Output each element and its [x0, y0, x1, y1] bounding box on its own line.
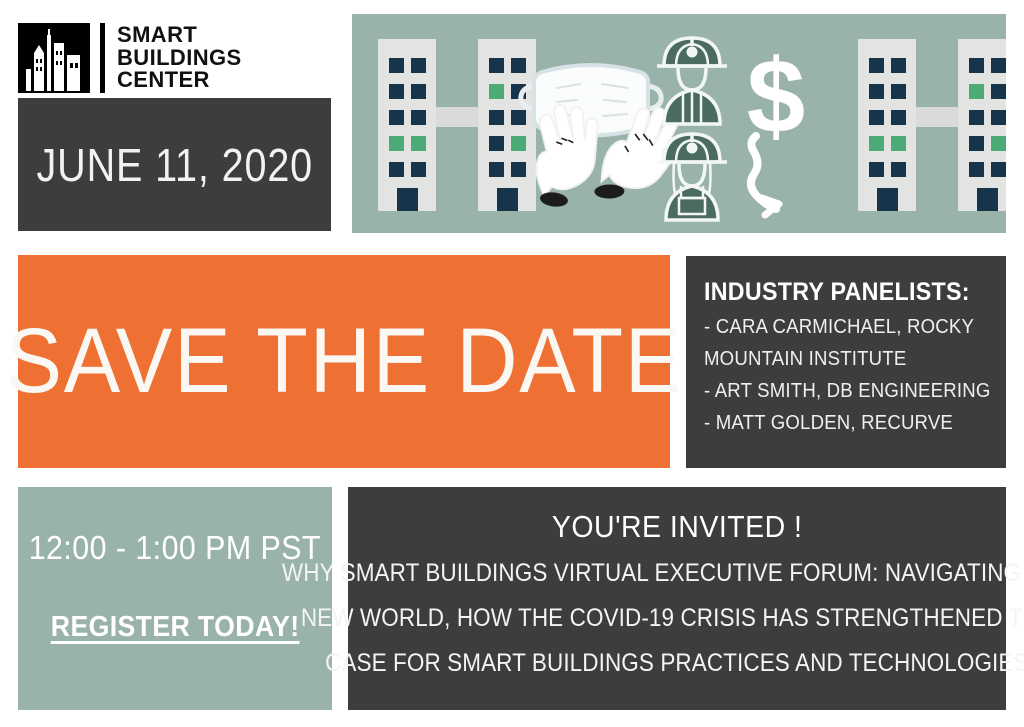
flyer-canvas: SMART BUILDINGS CENTER JUNE 11, 2020: [0, 0, 1024, 727]
register-today-link[interactable]: REGISTER TODAY!: [51, 611, 300, 644]
covid-buildings-illustration: $: [352, 14, 1006, 233]
save-the-date-panel: SAVE THE DATE: [18, 255, 670, 468]
invite-heading: YOU'RE INVITED !: [552, 509, 803, 545]
logo-line-3: CENTER: [117, 69, 242, 91]
logo-line-1: SMART: [117, 24, 242, 46]
brand-logo: SMART BUILDINGS CENTER: [18, 22, 318, 94]
event-date-text: JUNE 11, 2020: [36, 138, 313, 192]
panelist-item: MOUNTAIN INSTITUTE: [704, 348, 985, 371]
invite-body-line: CASE FOR SMART BUILDINGS PRACTICES AND T…: [325, 649, 1024, 678]
panelist-item: - ART SMITH, DB ENGINEERING: [704, 380, 985, 403]
logo-wordmark: SMART BUILDINGS CENTER: [117, 24, 242, 91]
event-time-text: 12:00 - 1:00 PM PST: [29, 529, 321, 567]
logo-divider-bar: [100, 23, 105, 93]
event-date-panel: JUNE 11, 2020: [18, 98, 331, 231]
city-skyline-logo-icon: [18, 23, 90, 93]
panelists-title: INDUSTRY PANELISTS:: [704, 278, 985, 307]
panelist-item: - CARA CARMICHAEL, ROCKY: [704, 316, 985, 339]
invitation-panel: YOU'RE INVITED ! WHY SMART BUILDINGS VIR…: [348, 487, 1006, 710]
invite-body-line: NEW WORLD, HOW THE COVID-19 CRISIS HAS S…: [301, 604, 1024, 633]
industry-panelists-panel: INDUSTRY PANELISTS: - CARA CARMICHAEL, R…: [686, 256, 1006, 468]
logo-line-2: BUILDINGS: [117, 47, 242, 69]
panelist-item: - MATT GOLDEN, RECURVE: [704, 412, 985, 435]
invite-body-line: WHY SMART BUILDINGS VIRTUAL EXECUTIVE FO…: [282, 559, 1024, 588]
save-the-date-headline: SAVE THE DATE: [5, 309, 683, 414]
event-time-panel: 12:00 - 1:00 PM PST REGISTER TODAY!: [18, 487, 332, 710]
